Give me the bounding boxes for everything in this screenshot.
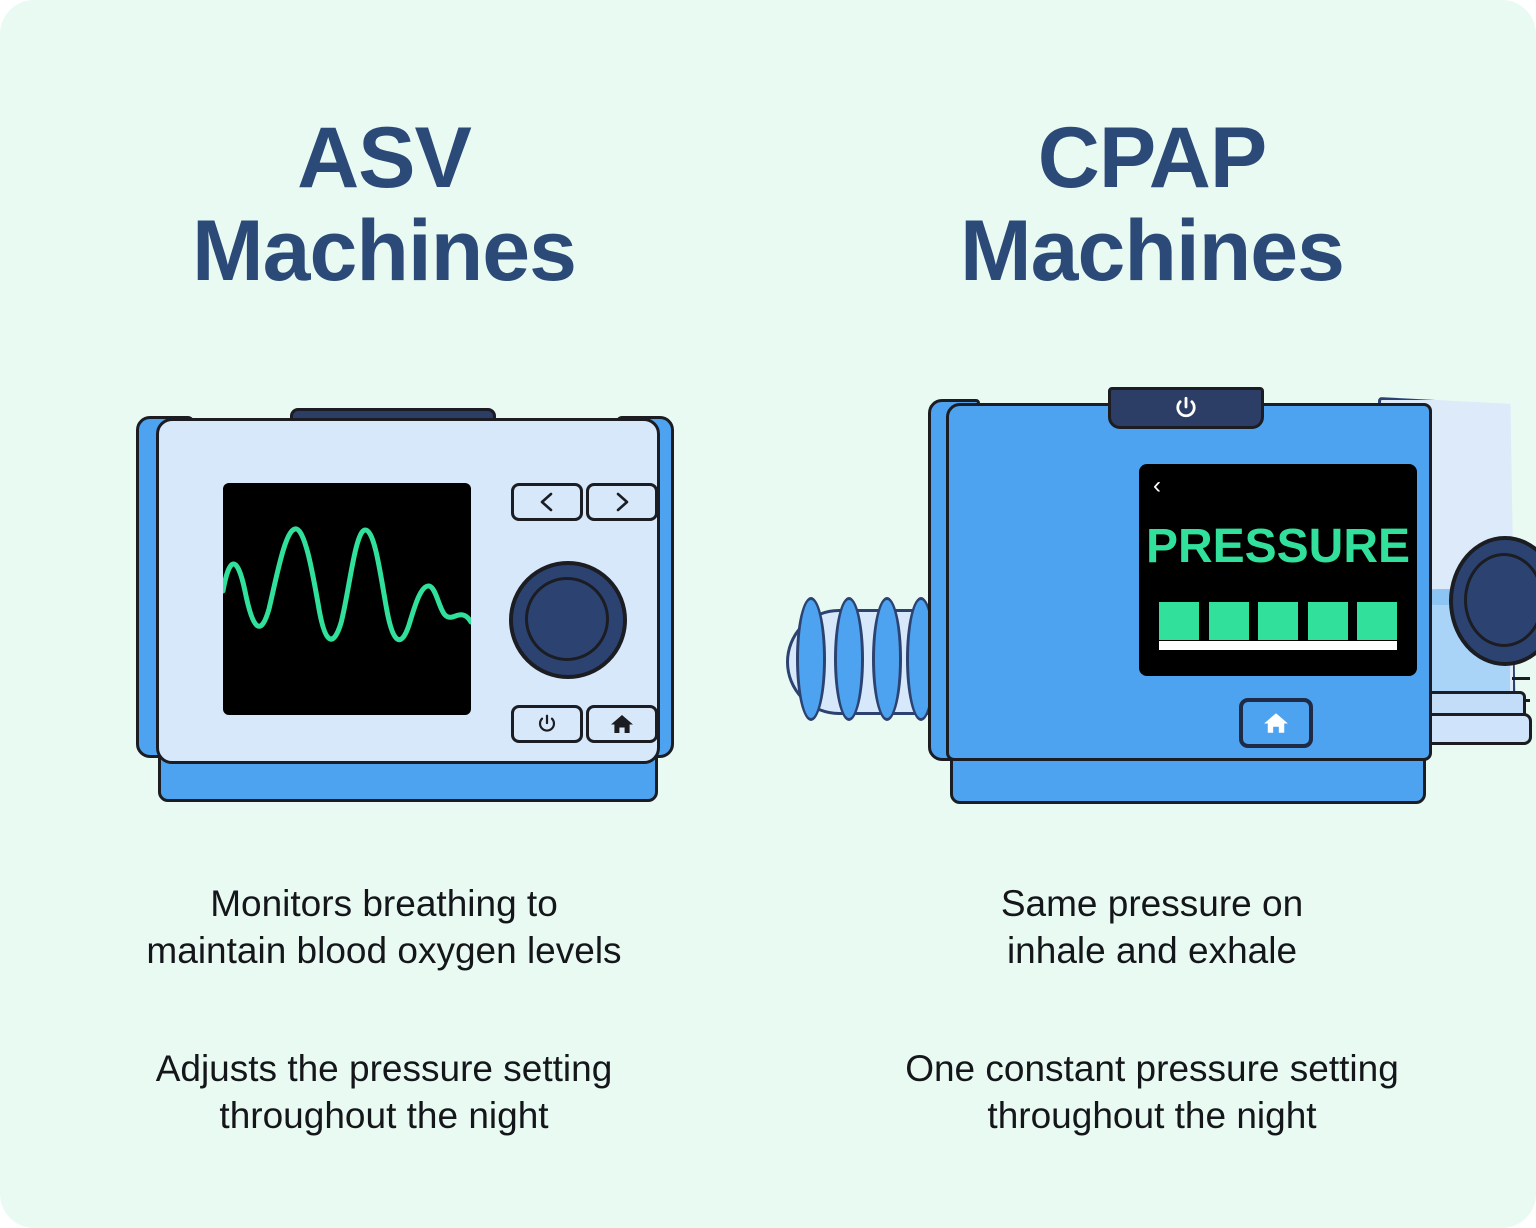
screen-bar: [1209, 602, 1249, 640]
asv-column: ASV Machines: [0, 0, 768, 1228]
screen-baseline: [1159, 641, 1397, 650]
air-hose: [778, 597, 938, 723]
hose-rib-3: [872, 597, 902, 721]
asv-illustration-stage: [0, 380, 768, 820]
cpap-illustration-stage: ‹ PRESSURE: [768, 380, 1536, 820]
breathing-waveform-icon: [223, 483, 471, 715]
asv-power-button[interactable]: [511, 705, 583, 743]
home-icon: [610, 713, 634, 735]
hose-rib-1: [796, 597, 826, 721]
power-icon: [536, 713, 558, 735]
cpap-home-button[interactable]: [1239, 698, 1313, 748]
asv-right-arrow-button[interactable]: [586, 483, 658, 521]
asv-caption-1-line2: maintain blood oxygen levels: [89, 927, 679, 974]
screen-bar: [1357, 602, 1397, 640]
screen-bar: [1159, 602, 1199, 640]
cpap-caption-2-line1: One constant pressure setting: [857, 1045, 1447, 1092]
cpap-caption-1-line1: Same pressure on: [857, 880, 1447, 927]
cpap-power-button[interactable]: [1108, 387, 1264, 429]
screen-back-chevron-icon[interactable]: ‹: [1153, 474, 1161, 498]
cpap-caption-1: Same pressure on inhale and exhale: [857, 880, 1447, 975]
asv-home-button[interactable]: [586, 705, 658, 743]
asv-caption-1: Monitors breathing to maintain blood oxy…: [89, 880, 679, 975]
hose-rib-2: [834, 597, 864, 721]
chevron-right-icon: [612, 491, 632, 513]
cpap-heading-line2: Machines: [768, 205, 1536, 298]
home-icon: [1263, 711, 1289, 735]
asv-heading-line2: Machines: [0, 205, 768, 298]
screen-bar: [1308, 602, 1348, 640]
screen-bar: [1258, 602, 1298, 640]
screen-title: PRESSURE: [1139, 519, 1417, 574]
asv-display-screen: [223, 483, 471, 715]
asv-machine: [130, 400, 680, 810]
cpap-heading-line1: CPAP: [1038, 110, 1267, 206]
screen-pressure-bars: [1159, 596, 1397, 640]
cpap-caption-2: One constant pressure setting throughout…: [857, 1045, 1447, 1140]
cpap-caption-2-line2: throughout the night: [857, 1092, 1447, 1139]
asv-captions: Monitors breathing to maintain blood oxy…: [0, 880, 768, 1139]
asv-heading: ASV Machines: [0, 112, 768, 298]
comparison-infographic: ASV Machines: [0, 0, 1536, 1228]
power-icon: [1173, 395, 1199, 421]
asv-caption-1-line1: Monitors breathing to: [89, 880, 679, 927]
asv-caption-2: Adjusts the pressure setting throughout …: [89, 1045, 679, 1140]
asv-caption-2-line2: throughout the night: [89, 1092, 679, 1139]
cpap-heading: CPAP Machines: [768, 112, 1536, 298]
asv-front-panel: [156, 418, 660, 764]
cpap-captions: Same pressure on inhale and exhale One c…: [768, 880, 1536, 1139]
chamber-tick-3: [1512, 677, 1530, 680]
asv-left-arrow-button[interactable]: [511, 483, 583, 521]
cpap-column: CPAP Machines: [768, 0, 1536, 1228]
asv-control-knob[interactable]: [509, 561, 627, 679]
cpap-front-panel: ‹ PRESSURE: [946, 403, 1432, 761]
asv-caption-2-line1: Adjusts the pressure setting: [89, 1045, 679, 1092]
cpap-caption-1-line2: inhale and exhale: [857, 927, 1447, 974]
comparison-columns: ASV Machines: [0, 0, 1536, 1228]
cpap-machine: ‹ PRESSURE: [778, 385, 1536, 810]
asv-heading-line1: ASV: [297, 110, 471, 206]
chevron-left-icon: [537, 491, 557, 513]
cpap-display-screen: ‹ PRESSURE: [1139, 464, 1417, 676]
